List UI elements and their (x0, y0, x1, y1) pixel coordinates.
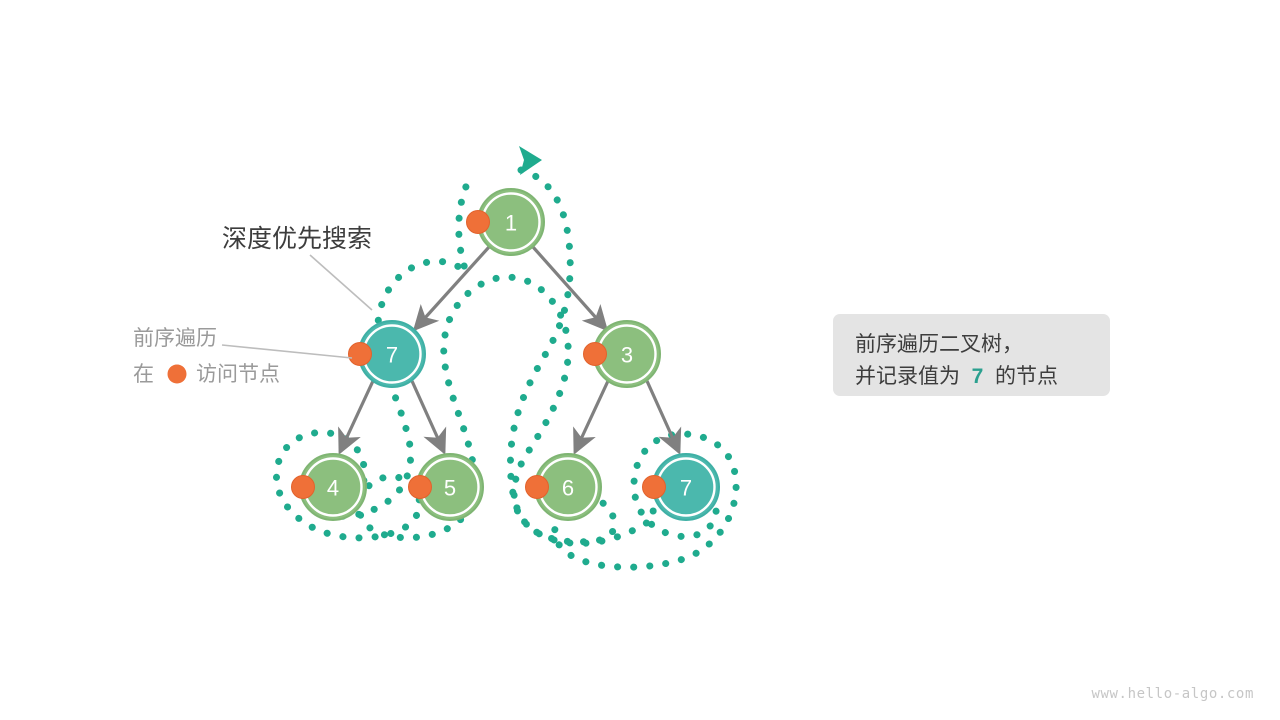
node-value-label: 1 (505, 211, 517, 236)
panel-line-2-suffix: 的节点 (995, 365, 1058, 388)
legend-leader-line (222, 345, 352, 358)
node-value-label: 6 (562, 476, 574, 501)
title-leader-line (310, 255, 372, 310)
node-value-label: 3 (621, 343, 633, 368)
visit-dot-icon (292, 476, 315, 499)
panel-line-2-prefix: 并记录值为 (855, 365, 960, 388)
dfs-title: 深度优先搜索 (222, 225, 372, 253)
panel-highlight-value: 7 (972, 365, 984, 388)
edge-n3-n6 (575, 381, 608, 452)
node-value-label: 4 (327, 476, 339, 501)
node-value-label: 5 (444, 476, 456, 501)
node-value-label: 7 (386, 343, 398, 368)
visit-dot-icon (643, 476, 666, 499)
visit-dot-icon (584, 343, 607, 366)
edge-n7a-n4 (340, 381, 373, 452)
panel-line-1: 前序遍历二叉树， (855, 329, 1110, 361)
visit-dot-icon (467, 211, 490, 234)
visit-dot-icon (409, 476, 432, 499)
dfs-start-arrow-icon (519, 146, 542, 175)
diagram-canvas: 1734567 深度优先搜索 前序遍历 在 访问节点 前序遍历二叉树， 并记录值… (0, 0, 1280, 720)
description-panel: 前序遍历二叉树， 并记录值为 7 的节点 (833, 314, 1110, 396)
orange-dot-icon (168, 365, 187, 384)
legend-visit-prefix: 在 (133, 363, 154, 386)
node-value-label: 7 (680, 476, 692, 501)
panel-line-2: 并记录值为 7 的节点 (855, 361, 1110, 393)
edge-n7a-n5 (412, 381, 444, 452)
legend-visit-suffix: 访问节点 (196, 363, 280, 386)
watermark: www.hello-algo.com (1091, 686, 1254, 702)
legend-preorder-label: 前序遍历 (133, 327, 217, 350)
edge-n3-n7b (647, 381, 679, 452)
visit-dot-icon (349, 343, 372, 366)
visit-dot-icon (526, 476, 549, 499)
